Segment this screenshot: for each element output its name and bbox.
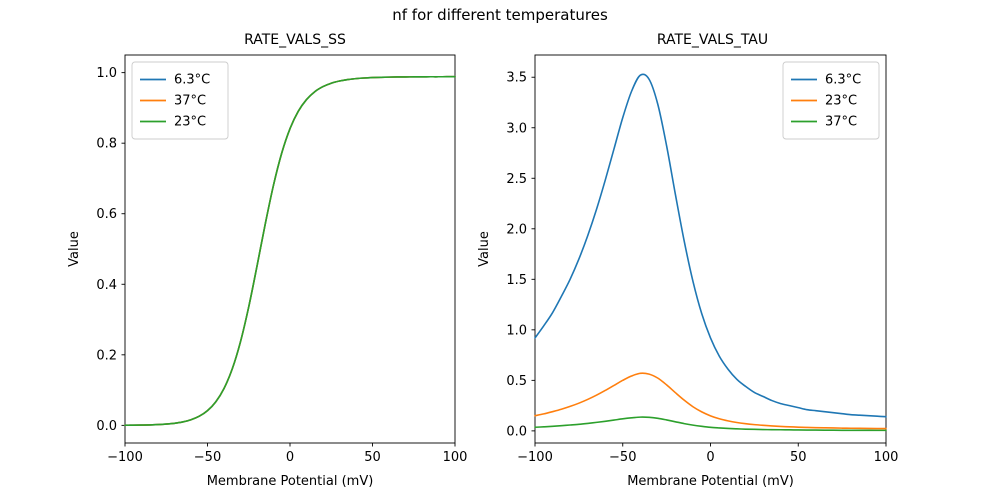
x-tick-label: 0 <box>706 450 714 465</box>
y-tick-label: 2.0 <box>506 222 527 237</box>
legend-label: 23°C <box>825 94 857 109</box>
legend: 6.3°C23°C37°C <box>783 62 879 139</box>
legend-label: 6.3°C <box>825 73 861 88</box>
y-tick-label: 0.5 <box>506 374 527 389</box>
curve-23c <box>535 373 886 428</box>
x-tick-label: 50 <box>790 450 807 465</box>
y-tick-label: 1.0 <box>506 323 527 338</box>
matplotlib-figure: nf for different temperatures RATE_VALS_… <box>0 0 1000 500</box>
y-tick-label: 1.5 <box>506 273 527 288</box>
y-axis-label: Value <box>477 231 492 267</box>
x-tick-label: −50 <box>609 450 636 465</box>
x-axis-label: Membrane Potential (mV) <box>627 474 794 489</box>
axes-rate-vals-tau: −100−500501000.00.51.01.52.02.53.03.5Mem… <box>0 0 1000 500</box>
legend-label: 37°C <box>825 115 857 130</box>
y-tick-label: 2.5 <box>506 172 527 187</box>
x-tick-label: 100 <box>874 450 899 465</box>
x-tick-label: −100 <box>517 450 553 465</box>
y-tick-label: 3.5 <box>506 71 527 86</box>
y-tick-label: 3.0 <box>506 121 527 136</box>
y-tick-label: 0.0 <box>506 424 527 439</box>
